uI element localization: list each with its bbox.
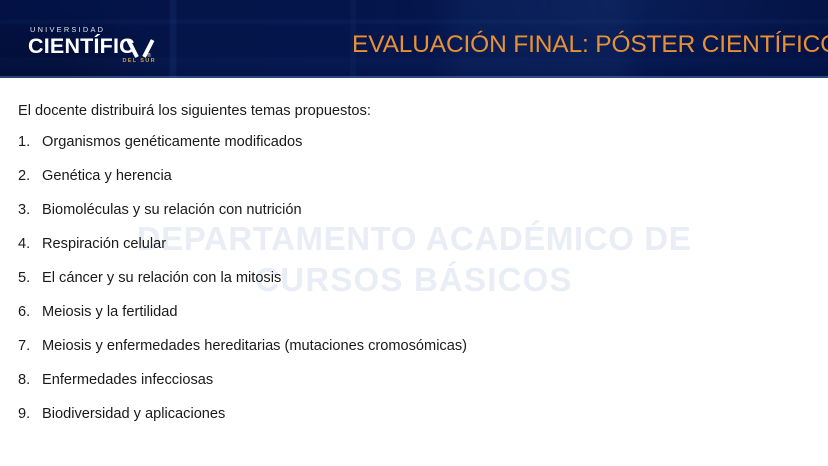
slide-canvas: UNIVERSIDAD CIENTÍFIC ® DEL SUR EVALUACI… [0, 0, 828, 466]
list-item-label: Enfermedades infecciosas [42, 371, 213, 390]
logo-wordmark-row: CIENTÍFIC ® [28, 35, 160, 57]
logo-del-sur-text: DEL SUR [122, 58, 156, 64]
list-item-label: Meiosis y la fertilidad [42, 303, 177, 322]
slide-title: EVALUACIÓN FINAL: PÓSTER CIENTÍFICO [352, 30, 812, 60]
list-item-number: 7. [18, 337, 42, 356]
list-item: 3. Biomoléculas y su relación con nutric… [0, 201, 828, 235]
list-item: 9. Biodiversidad y aplicaciones [0, 405, 828, 439]
logo-universidad-text: UNIVERSIDAD [28, 26, 160, 34]
list-item-label: Biodiversidad y aplicaciones [42, 405, 225, 424]
list-item: 5. El cáncer y su relación con la mitosi… [0, 269, 828, 303]
list-item-label: Biomoléculas y su relación con nutrición [42, 201, 302, 220]
logo-cientifica-text: CIENTÍFIC [28, 35, 135, 57]
list-item: 1. Organismos genéticamente modificados [0, 133, 828, 167]
list-item-label: El cáncer y su relación con la mitosis [42, 269, 281, 288]
list-item: 2. Genética y herencia [0, 167, 828, 201]
intro-paragraph: El docente distribuirá los siguientes te… [18, 102, 371, 121]
list-item-number: 1. [18, 133, 42, 152]
list-item: 4. Respiración celular [0, 235, 828, 269]
list-item-number: 3. [18, 201, 42, 220]
list-item-label: Respiración celular [42, 235, 166, 254]
logo-arrow-a-icon: ® [134, 39, 149, 56]
university-logo: UNIVERSIDAD CIENTÍFIC ® DEL SUR [28, 26, 160, 66]
topic-list: 1. Organismos genéticamente modificados … [0, 133, 828, 439]
list-item: 8. Enfermedades infecciosas [0, 371, 828, 405]
list-item-number: 4. [18, 235, 42, 254]
list-item-label: Genética y herencia [42, 167, 172, 186]
list-item-number: 9. [18, 405, 42, 424]
slide-body: El docente distribuirá los siguientes te… [0, 78, 828, 466]
list-item-label: Organismos genéticamente modificados [42, 133, 302, 152]
list-item: 6. Meiosis y la fertilidad [0, 303, 828, 337]
list-item-number: 5. [18, 269, 42, 288]
list-item-number: 2. [18, 167, 42, 186]
list-item-label: Meiosis y enfermedades hereditarias (mut… [42, 337, 467, 356]
list-item-number: 6. [18, 303, 42, 322]
list-item-number: 8. [18, 371, 42, 390]
list-item: 7. Meiosis y enfermedades hereditarias (… [0, 337, 828, 371]
